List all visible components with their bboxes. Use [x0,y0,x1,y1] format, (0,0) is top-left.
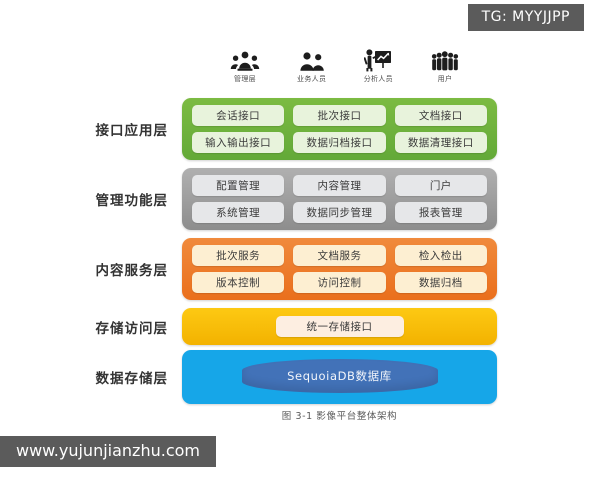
node-box[interactable]: 文档接口 [395,105,487,126]
layer-row-storage-access: 存储访问层 统一存储接口 [0,308,600,345]
architecture-diagram: 管理层 业务人员 [0,30,600,450]
node-box[interactable]: 数据清理接口 [395,132,487,153]
band-line: 统一存储接口 [192,316,487,337]
actor-label: 业务人员 [282,76,342,83]
band-line: 输入输出接口 数据归档接口 数据清理接口 [192,132,487,153]
node-box[interactable]: 内容管理 [293,175,385,196]
band-line: 版本控制 访问控制 数据归档 [192,272,487,293]
person-presentation-chart-icon [348,42,408,72]
figure-caption: 图 3-1 影像平台整体架构 [182,408,497,422]
layer-row-management-function: 管理功能层 配置管理 内容管理 门户 系统管理 数据同步管理 报表管理 [0,168,600,230]
layer-label: 管理功能层 [0,189,182,209]
layer-label: 接口应用层 [0,119,182,139]
layer-row-interface-application: 接口应用层 会话接口 批次接口 文档接口 输入输出接口 数据归档接口 数据清理接… [0,98,600,160]
band-line: 会话接口 批次接口 文档接口 [192,105,487,126]
layer-band: SequoiaDB数据库 [182,350,497,404]
node-box[interactable]: 批次接口 [293,105,385,126]
node-box[interactable]: 门户 [395,175,487,196]
node-box[interactable]: 数据归档接口 [293,132,385,153]
node-box[interactable]: 文档服务 [293,245,385,266]
actor-row: 管理层 业务人员 [215,42,475,83]
layer-label: 内容服务层 [0,259,182,279]
node-box[interactable]: 输入输出接口 [192,132,284,153]
node-box[interactable]: 版本控制 [192,272,284,293]
band-line: 批次服务 文档服务 检入检出 [192,245,487,266]
database-cylinder[interactable]: SequoiaDB数据库 [242,359,438,393]
layer-row-data-storage: 数据存储层 SequoiaDB数据库 [0,350,600,404]
actor-business-staff: 业务人员 [282,42,342,83]
node-box[interactable]: 访问控制 [293,272,385,293]
layer-band: 批次服务 文档服务 检入检出 版本控制 访问控制 数据归档 [182,238,497,300]
layer-row-content-service: 内容服务层 批次服务 文档服务 检入检出 版本控制 访问控制 数据归档 [0,238,600,300]
actor-label: 管理层 [215,76,275,83]
site-watermark: www.yujunjianzhu.com [0,436,216,467]
node-box[interactable]: 统一存储接口 [276,316,404,337]
band-line: 系统管理 数据同步管理 报表管理 [192,202,487,223]
band-line: 配置管理 内容管理 门户 [192,175,487,196]
node-box[interactable]: 系统管理 [192,202,284,223]
node-box[interactable]: 数据同步管理 [293,202,385,223]
actor-analyst: 分析人员 [348,42,408,83]
two-people-icon [282,42,342,72]
tg-badge: TG: MYYJJPP [468,4,584,31]
node-box[interactable]: 数据归档 [395,272,487,293]
people-group-icon [215,42,275,72]
node-box[interactable]: 批次服务 [192,245,284,266]
node-box[interactable]: 配置管理 [192,175,284,196]
crowd-icon [415,42,475,72]
actor-user: 用户 [415,42,475,83]
node-box[interactable]: 报表管理 [395,202,487,223]
node-box[interactable]: 检入检出 [395,245,487,266]
layer-label: 存储访问层 [0,317,182,337]
actor-label: 分析人员 [348,76,408,83]
layer-band: 配置管理 内容管理 门户 系统管理 数据同步管理 报表管理 [182,168,497,230]
layer-label: 数据存储层 [0,367,182,387]
layer-band: 统一存储接口 [182,308,497,345]
actor-label: 用户 [415,76,475,83]
node-box[interactable]: 会话接口 [192,105,284,126]
database-wrapper: SequoiaDB数据库 [192,359,487,393]
actor-management: 管理层 [215,42,275,83]
layer-band: 会话接口 批次接口 文档接口 输入输出接口 数据归档接口 数据清理接口 [182,98,497,160]
